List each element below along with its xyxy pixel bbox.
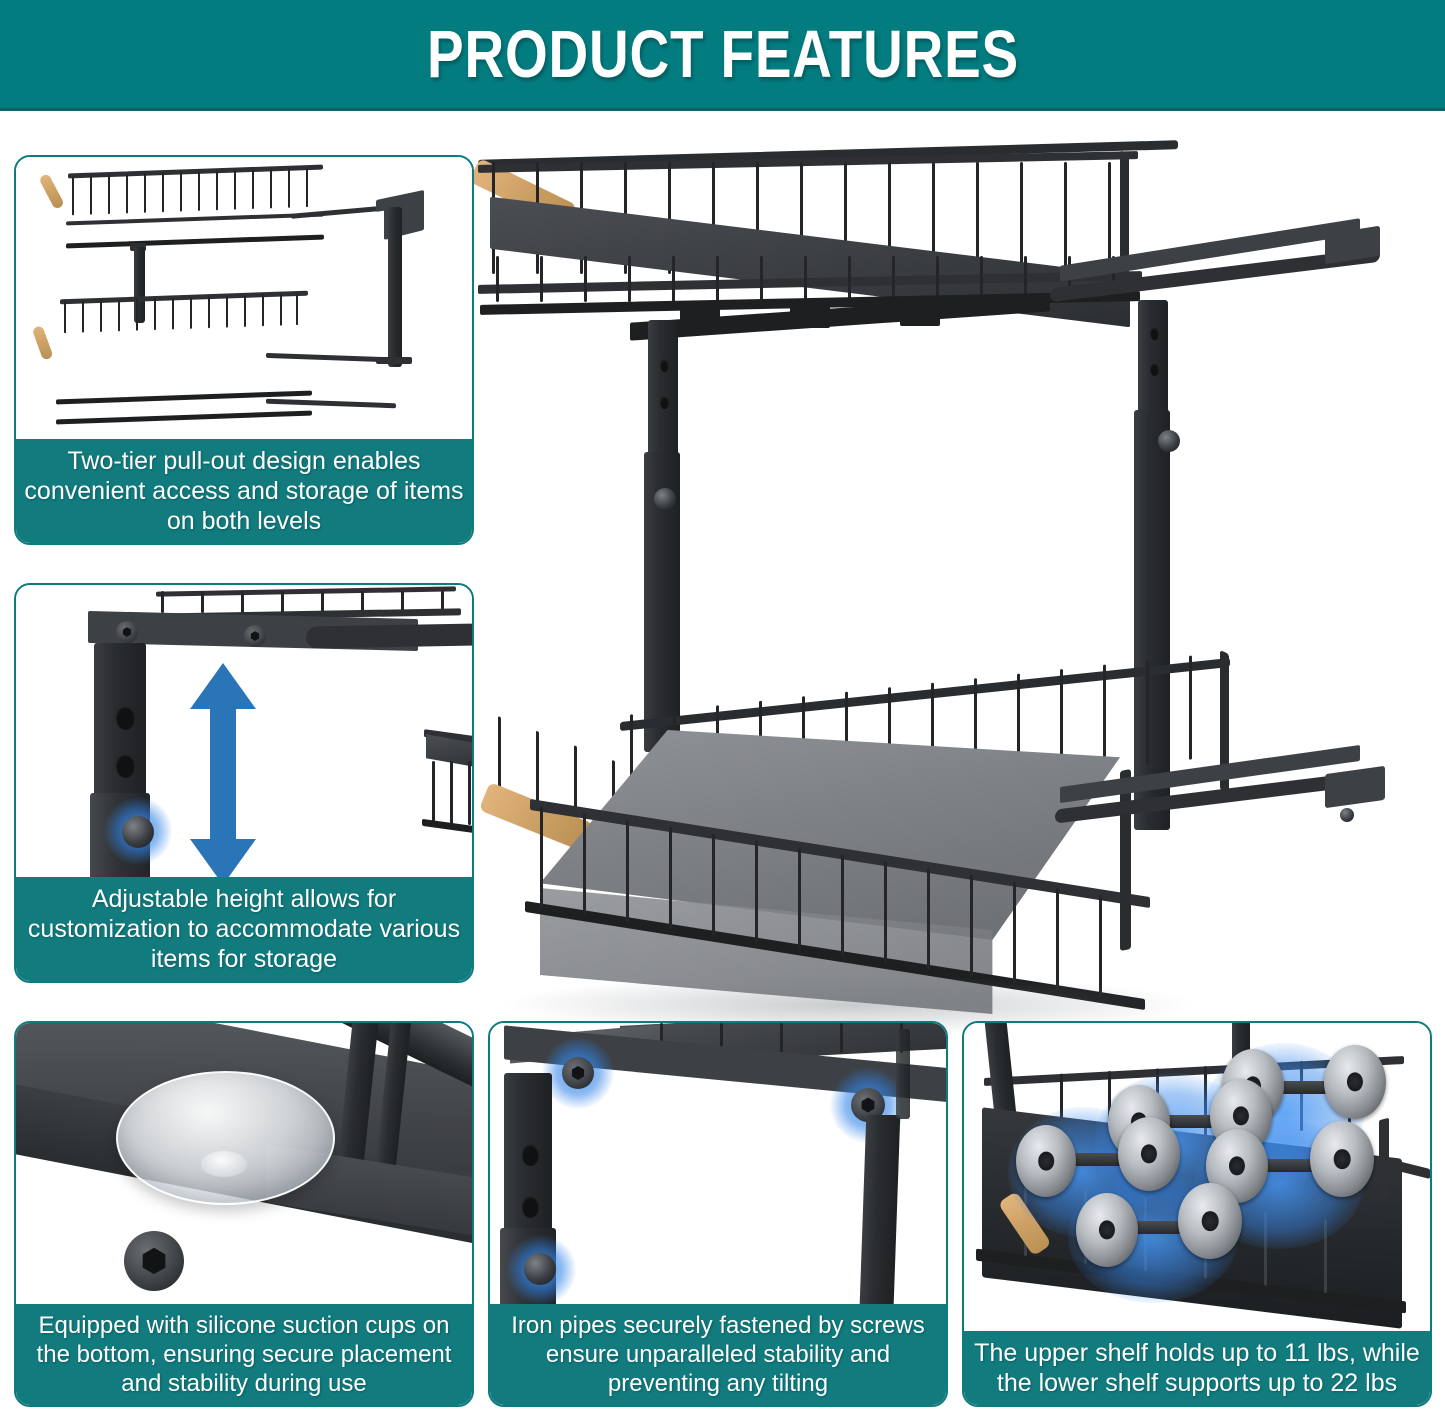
- screws-caption: Iron pipes securely fastened by screws e…: [488, 1304, 948, 1407]
- feature-panel-height: Adjustable height allows for customizati…: [14, 583, 474, 983]
- hex-bolt-icon: [124, 1231, 184, 1291]
- height-caption: Adjustable height allows for customizati…: [14, 877, 474, 983]
- adjustment-hole: [116, 705, 135, 730]
- vertical-double-arrow-icon: [188, 663, 258, 885]
- pipe-lock-knob[interactable]: [524, 1253, 556, 1285]
- suction-caption: Equipped with silicone suction cups on t…: [14, 1304, 474, 1407]
- feature-panel-capacity: The upper shelf holds up to 11 lbs, whil…: [962, 1021, 1432, 1407]
- right-post-knob: [1158, 430, 1180, 452]
- pullout-caption: Two-tier pull-out design enables conveni…: [14, 439, 474, 545]
- height-lock-knob[interactable]: [122, 816, 154, 848]
- page-header: PRODUCT FEATURES: [0, 0, 1445, 111]
- feature-panel-screws: Iron pipes securely fastened by screws e…: [488, 1021, 948, 1407]
- adjustment-hole: [116, 753, 135, 778]
- left-post-upper: [648, 320, 678, 460]
- left-post-knob: [654, 488, 676, 510]
- suction-cup-icon: [116, 1071, 335, 1205]
- feature-panel-suction: Equipped with silicone suction cups on t…: [14, 1021, 474, 1407]
- dumbbell: [1074, 1181, 1254, 1271]
- right-post-upper: [1138, 300, 1168, 418]
- hero-product-image: [420, 130, 1445, 1020]
- page-title: PRODUCT FEATURES: [426, 16, 1018, 93]
- capacity-caption: The upper shelf holds up to 11 lbs, whil…: [962, 1331, 1432, 1407]
- feature-panel-pullout: Two-tier pull-out design enables conveni…: [14, 155, 474, 545]
- hex-screw-icon: [562, 1057, 594, 1089]
